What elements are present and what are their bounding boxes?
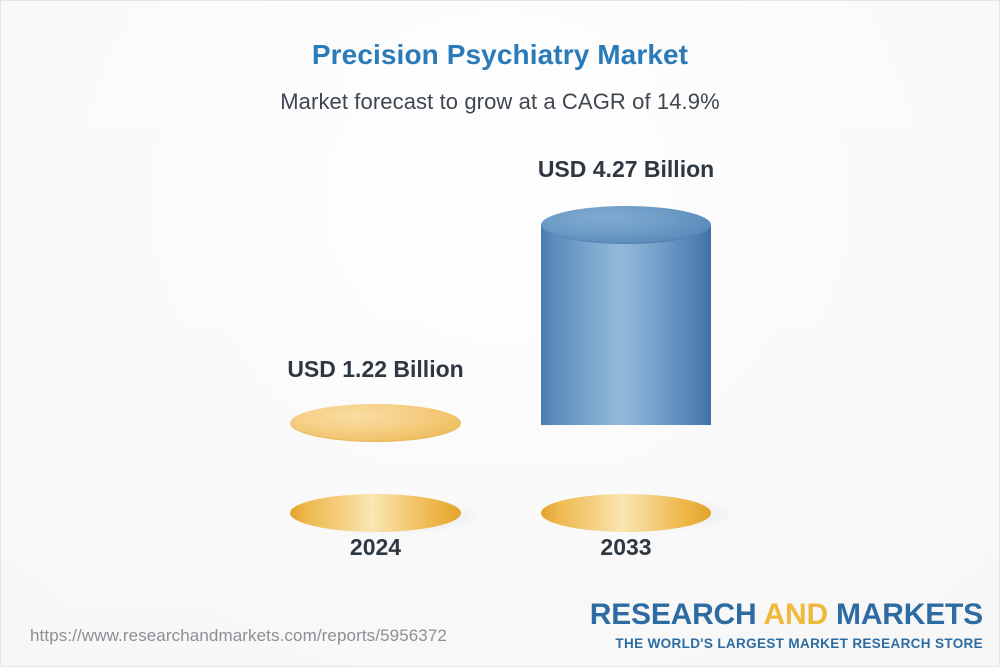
chart-canvas: Precision Psychiatry Market Market forec… [0,0,1000,667]
cylinder-2033[interactable] [541,156,711,531]
cylinder-2024[interactable] [290,356,461,531]
brand-name: RESEARCH AND MARKETS [590,600,983,630]
cylinder-top-cap-2033 [541,206,711,244]
report-url[interactable]: https://www.researchandmarkets.com/repor… [30,626,447,646]
plot-area: USD 1.22 Billion USD 4.27 Billion 2024 2 [1,1,1000,667]
cylinder-segment-gold-2033 [541,425,711,513]
category-label-2024: 2024 [290,534,461,561]
cylinder-top-cap-2024 [290,404,461,442]
brand-logo: RESEARCH AND MARKETS THE WORLD'S LARGEST… [590,600,983,651]
brand-name-part1: RESEARCH [590,598,764,631]
brand-name-part2: MARKETS [828,598,983,631]
category-label-2033: 2033 [541,534,711,561]
brand-name-and: AND [764,598,828,631]
cylinder-segment-blue-2033 [541,225,711,425]
brand-tagline: THE WORLD'S LARGEST MARKET RESEARCH STOR… [590,637,983,651]
